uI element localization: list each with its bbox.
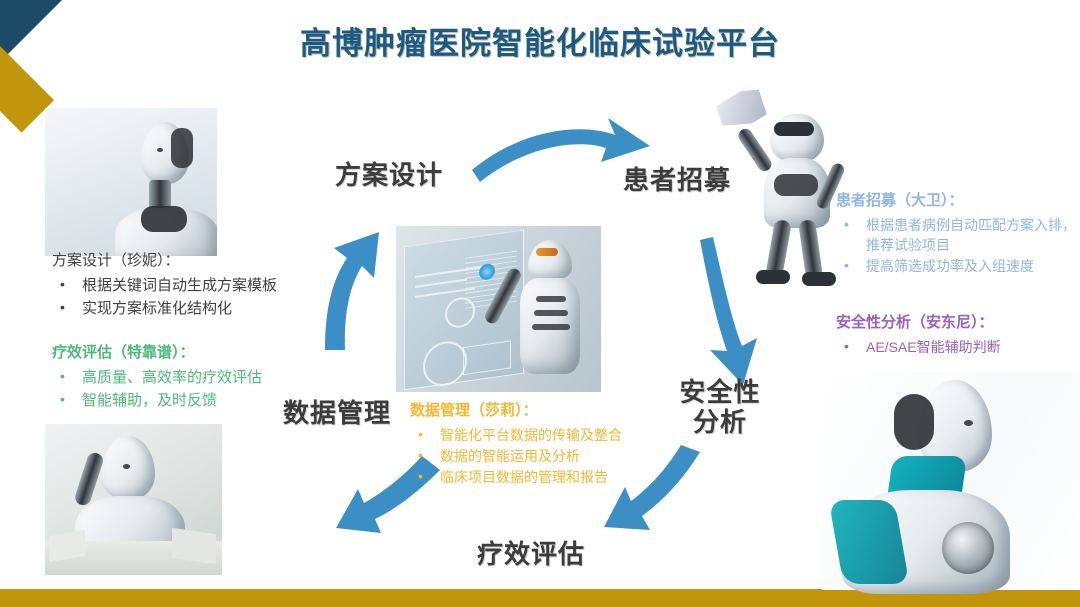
text-block-safety-list: AE/SAE智能辅助判断	[836, 337, 1080, 357]
list-item: 高质量、高效率的疗效评估	[52, 367, 352, 389]
cycle-label-design: 方案设计	[335, 155, 443, 192]
text-block-recruit: 患者招募（大卫）： 根据患者病例自动匹配方案入排，推荐试验项目 提高筛选成功率及…	[836, 190, 1080, 278]
list-item: AE/SAE智能辅助判断	[836, 337, 1080, 357]
text-block-design-list: 根据关键词自动生成方案模板 实现方案标准化结构化	[52, 275, 352, 320]
list-item: 实现方案标准化结构化	[52, 298, 352, 320]
text-block-recruit-heading: 患者招募（大卫）：	[836, 190, 1080, 212]
cycle-label-efficacy: 疗效评估	[477, 534, 585, 571]
list-item: 智能化平台数据的传输及整合	[410, 425, 680, 445]
text-block-data-list: 智能化平台数据的传输及整合 数据的智能运用及分析 临床项目数据的管理和报告	[410, 425, 680, 488]
list-item: 根据患者病例自动匹配方案入排，推荐试验项目	[836, 215, 1080, 256]
cycle-label-safety: 安全性分析	[672, 378, 768, 438]
list-item: 临床项目数据的管理和报告	[410, 467, 680, 487]
text-block-recruit-list: 根据患者病例自动匹配方案入排，推荐试验项目 提高筛选成功率及入组速度	[836, 215, 1080, 277]
text-block-safety-heading: 安全性分析（安东尼）：	[836, 312, 1080, 334]
list-item: 根据关键词自动生成方案模板	[52, 275, 352, 297]
list-item: 数据的智能运用及分析	[410, 446, 680, 466]
text-block-efficacy-heading: 疗效评估（特靠谱）：	[52, 342, 352, 364]
text-block-data-heading: 数据管理（莎莉）：	[410, 400, 680, 422]
text-block-efficacy: 疗效评估（特靠谱）： 高质量、高效率的疗效评估 智能辅助，及时反馈	[52, 342, 352, 412]
text-block-design: 方案设计（珍妮）： 根据关键词自动生成方案模板 实现方案标准化结构化	[52, 250, 352, 320]
cycle-label-recruit: 患者招募	[623, 160, 731, 197]
slide-canvas: 高博肿瘤医院智能化临床试验平台	[0, 0, 1080, 607]
text-block-safety: 安全性分析（安东尼）： AE/SAE智能辅助判断	[836, 312, 1080, 358]
list-item: 智能辅助，及时反馈	[52, 390, 352, 412]
list-item: 提高筛选成功率及入组速度	[836, 256, 1080, 276]
text-block-data: 数据管理（莎莉）： 智能化平台数据的传输及整合 数据的智能运用及分析 临床项目数…	[410, 400, 680, 489]
text-block-design-heading: 方案设计（珍妮）：	[52, 250, 352, 272]
arrow-recruit-to-safety	[700, 237, 757, 385]
text-block-efficacy-list: 高质量、高效率的疗效评估 智能辅助，及时反馈	[52, 367, 352, 412]
